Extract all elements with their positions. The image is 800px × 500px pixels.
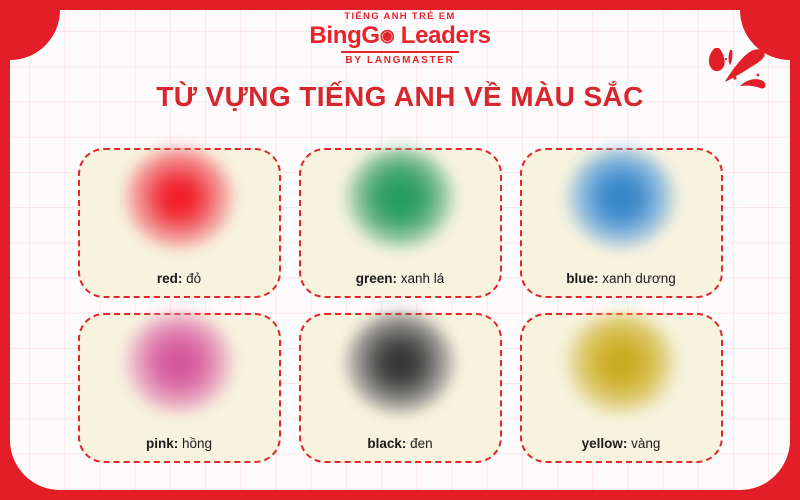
brand-registered-icon: ◉ — [380, 26, 395, 45]
brand-tagline: TIẾNG ANH TRẺ EM — [0, 12, 800, 22]
brand-subtitle: BY LANGMASTER — [0, 56, 800, 66]
color-swatch-core — [372, 337, 428, 389]
color-card[interactable]: yellow: vàng — [520, 313, 723, 463]
color-label: blue: xanh dương — [566, 272, 675, 287]
color-label-vi: xanh lá — [401, 271, 445, 286]
color-card[interactable]: blue: xanh dương — [520, 148, 723, 298]
brand-name-post: Leaders — [394, 22, 490, 49]
color-label: black: đen — [367, 437, 432, 452]
color-label: pink: hồng — [146, 437, 212, 452]
color-label-vi: hồng — [182, 436, 212, 451]
page-title: TỪ VỰNG TIẾNG ANH VỀ MÀU SẮC — [0, 83, 800, 111]
color-card[interactable]: pink: hồng — [78, 313, 281, 463]
color-card-grid: red: đỏ green: xanh lá blue: xanh dương … — [0, 148, 800, 463]
color-label: red: đỏ — [157, 272, 201, 287]
poster-header: TIẾNG ANH TRẺ EM BingG◉ Leaders BY LANGM… — [0, 0, 800, 111]
color-label-en: green: — [356, 271, 397, 286]
brand-name: BingG◉ Leaders — [0, 23, 800, 49]
color-swatch-core — [593, 337, 649, 389]
color-label-en: pink: — [146, 436, 178, 451]
brand-divider — [341, 51, 459, 53]
color-swatch-core — [151, 337, 207, 389]
color-card[interactable]: black: đen — [299, 313, 502, 463]
color-swatch-core — [151, 172, 207, 224]
color-label-en: red: — [157, 271, 183, 286]
color-label-en: black: — [367, 436, 406, 451]
color-label: yellow: vàng — [582, 437, 661, 452]
color-label-vi: đen — [410, 436, 433, 451]
color-swatch-core — [372, 172, 428, 224]
color-label-vi: đỏ — [186, 271, 201, 286]
color-card[interactable]: green: xanh lá — [299, 148, 502, 298]
poster-canvas: TIẾNG ANH TRẺ EM BingG◉ Leaders BY LANGM… — [0, 0, 800, 500]
color-label-en: blue: — [566, 271, 598, 286]
color-label-vi: vàng — [631, 436, 660, 451]
color-label-vi: xanh dương — [602, 271, 675, 286]
color-card[interactable]: red: đỏ — [78, 148, 281, 298]
brand-name-pre: BingG — [309, 22, 380, 49]
brand-logo: TIẾNG ANH TRẺ EM BingG◉ Leaders BY LANGM… — [0, 0, 800, 66]
paint-splash-icon — [706, 38, 772, 96]
color-label: green: xanh lá — [356, 272, 445, 287]
color-label-en: yellow: — [582, 436, 628, 451]
color-swatch-core — [593, 172, 649, 224]
